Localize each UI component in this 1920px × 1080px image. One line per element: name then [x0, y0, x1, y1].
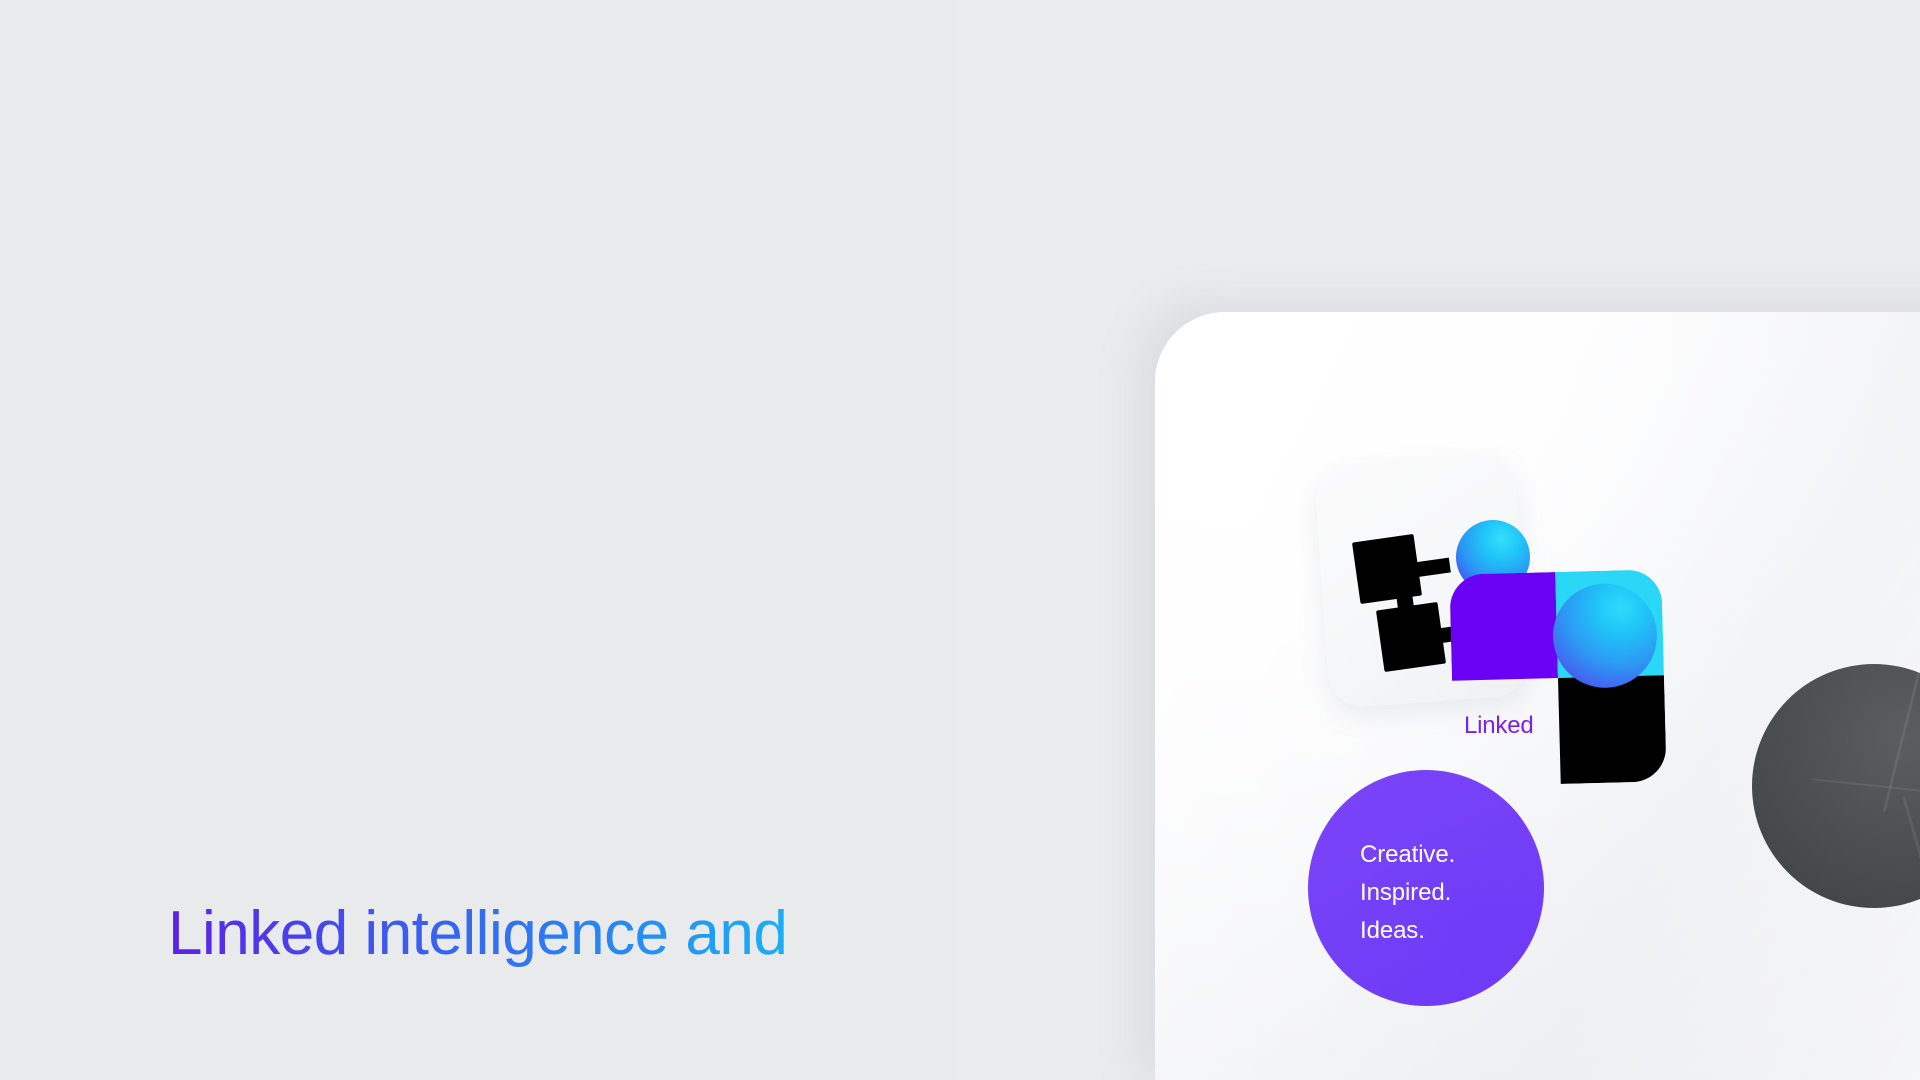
- node-square-bottom: [1376, 602, 1446, 672]
- brand-label-linked: Linked: [1464, 712, 1534, 740]
- hero-headline: Linked intelligence and create more.: [168, 694, 1048, 1080]
- disc-highlight-3: [1812, 778, 1920, 791]
- brand-quadrant-mark: [1449, 569, 1666, 786]
- quadrant-bottom-right: [1558, 675, 1667, 784]
- purple-circle-text: Creative. Inspired. Ideas.: [1360, 836, 1455, 950]
- hero-canvas: Linked intelligence and create more. Lin…: [0, 0, 1920, 1080]
- disc-highlight-2: [1902, 796, 1920, 908]
- node-connector-horizontal-top: [1413, 558, 1451, 578]
- purple-circle-badge: Creative. Inspired. Ideas.: [1308, 770, 1544, 1006]
- headline-line-1: Linked intelligence and: [168, 886, 1048, 982]
- quadrant-top-left: [1449, 572, 1558, 681]
